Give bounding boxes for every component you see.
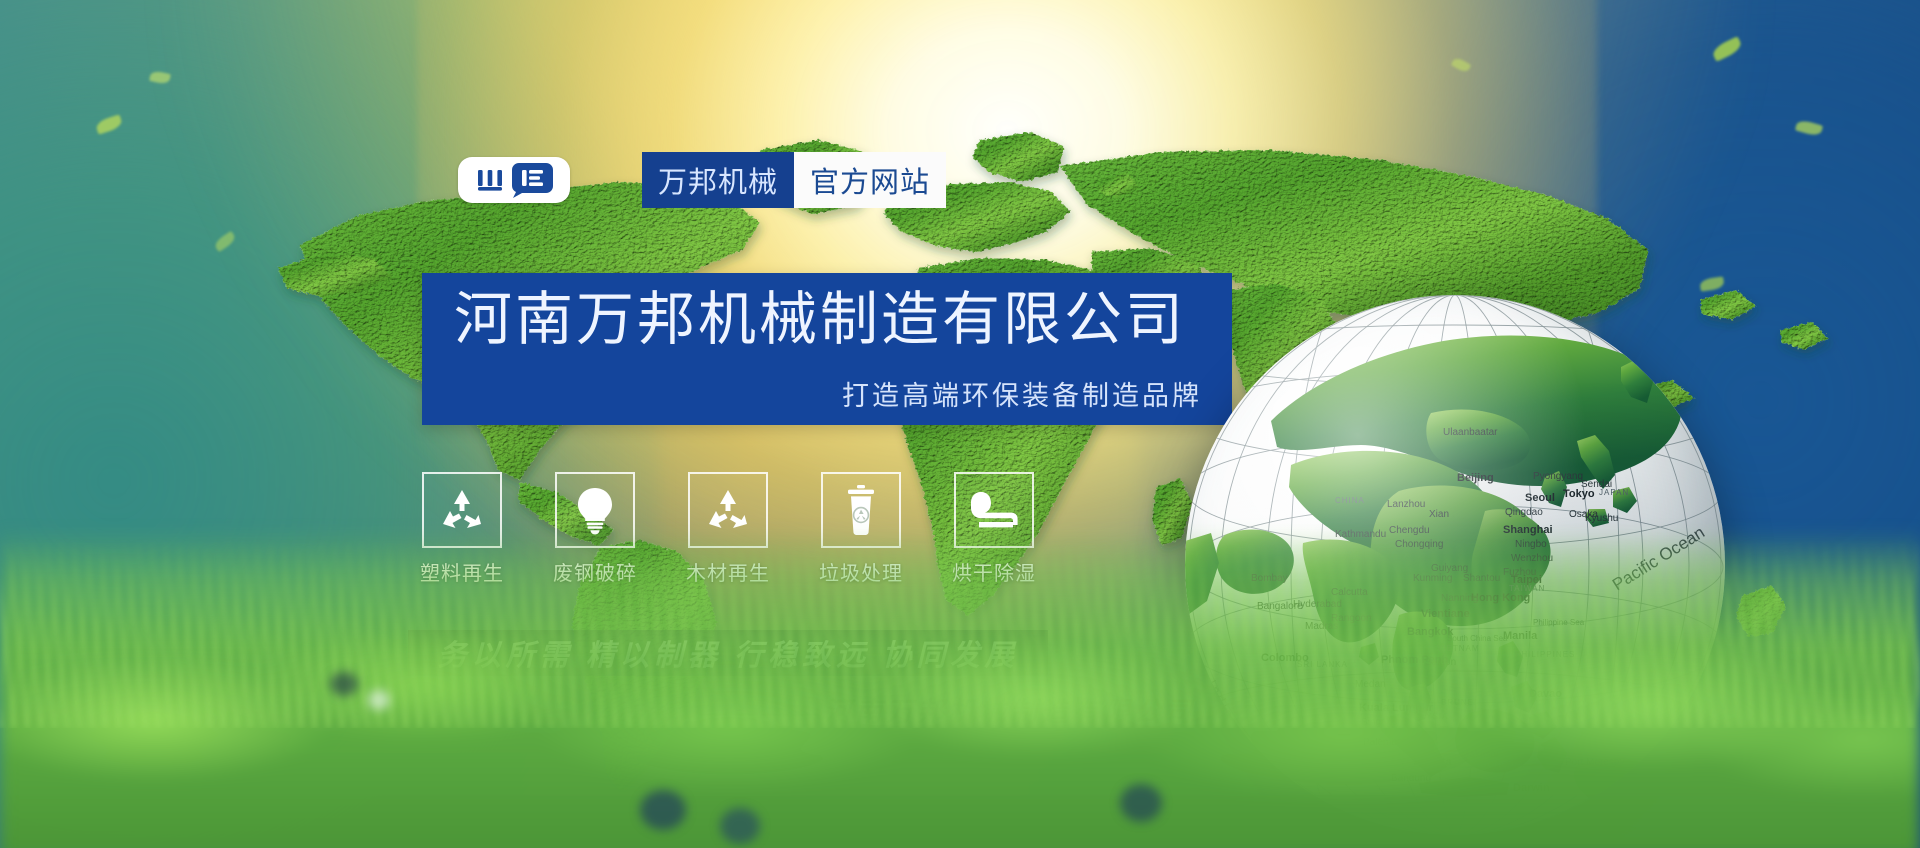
grass-blades: [0, 538, 1920, 728]
city-label: Ulaanbaatar: [1443, 427, 1498, 438]
w-logo-icon: [475, 166, 505, 194]
country-label: JAPAN: [1599, 488, 1629, 497]
tab-official-site[interactable]: 官方网站: [794, 152, 946, 208]
tab-company[interactable]: 万邦机械: [642, 152, 794, 208]
bokeh-dot-5: [368, 690, 390, 710]
company-banner: 河南万邦机械制造有限公司 打造高端环保装备制造品牌: [422, 273, 1232, 425]
city-label: Xian: [1429, 509, 1449, 520]
hero-banner: 万邦机械 官方网站 河南万邦机械制造有限公司 打造高端环保装备制造品牌 塑料再生: [0, 0, 1920, 848]
b-bubble-logo-icon: [510, 161, 554, 199]
header-tabs: 万邦机械 官方网站: [642, 152, 946, 208]
bokeh-dot-2: [720, 808, 760, 844]
city-label: Seoul: [1525, 492, 1555, 504]
recycle-icon: [703, 486, 753, 534]
wanbang-logo[interactable]: [458, 157, 570, 203]
recycle-icon: [437, 486, 487, 534]
city-label: Kyushu: [1585, 513, 1618, 524]
site-header: 万邦机械 官方网站: [458, 152, 946, 208]
page-subtitle: 打造高端环保装备制造品牌: [842, 374, 1202, 413]
bokeh-dot-3: [1120, 784, 1162, 822]
city-label: Qingdao: [1505, 507, 1543, 518]
page-title: 河南万邦机械制造有限公司: [454, 285, 1186, 356]
dryer-icon: [967, 489, 1021, 531]
country-label: CHINA: [1335, 496, 1365, 505]
city-label: Beijing: [1457, 472, 1494, 484]
bokeh-dot-4: [330, 672, 358, 696]
city-label: Pyongyang: [1533, 471, 1583, 482]
bokeh-dot-1: [640, 790, 686, 830]
city-label: Lanzhou: [1387, 499, 1425, 510]
